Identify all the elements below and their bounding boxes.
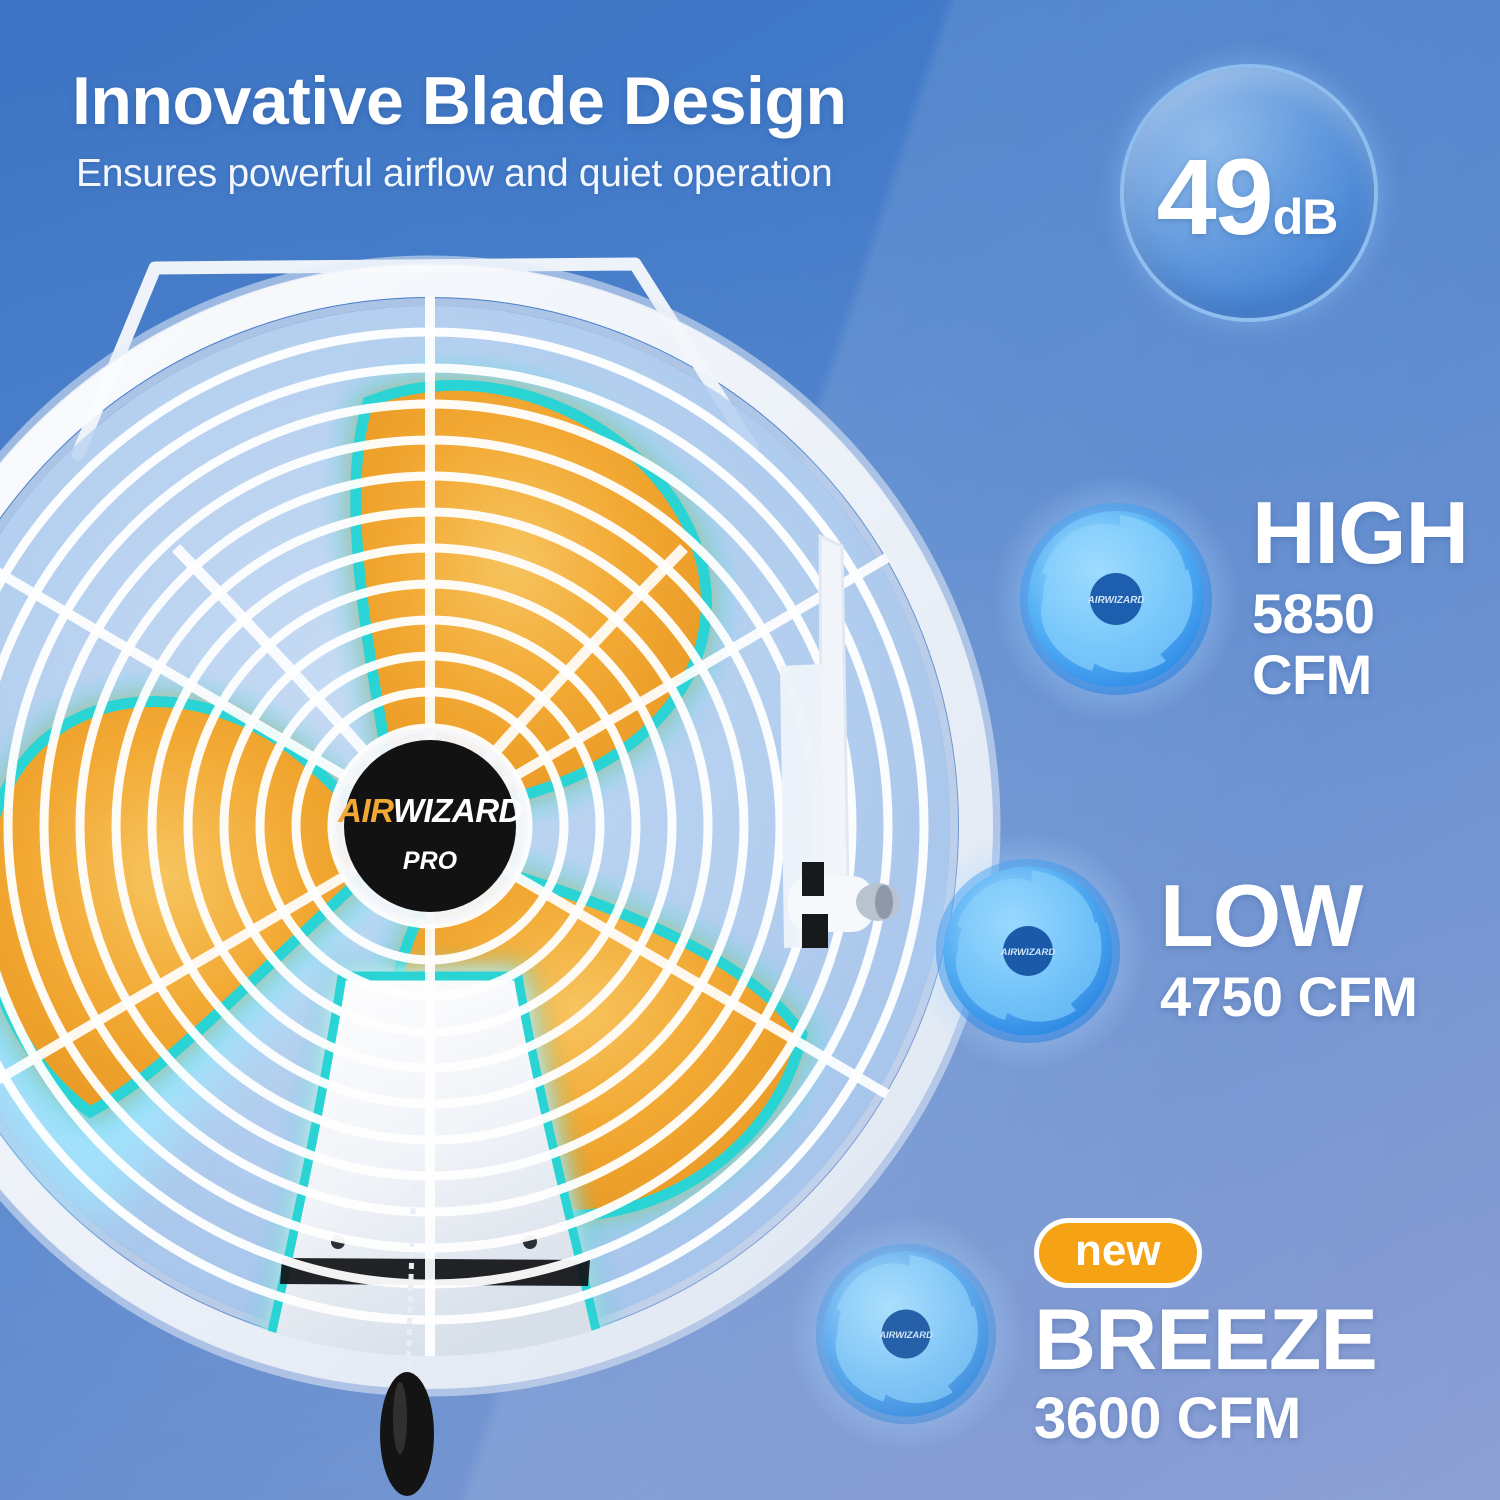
fan-icon-high: AIRWIZARD <box>1016 499 1216 699</box>
new-badge: new <box>1034 1218 1202 1288</box>
speed-labels-breeze: new BREEZE 3600 CFM <box>1034 1218 1377 1451</box>
noise-level-unit: dB <box>1273 192 1338 242</box>
fan-hub-logo: AIRWIZARD PRO <box>332 728 528 924</box>
fan-icon-breeze: AIRWIZARD <box>812 1240 1000 1428</box>
fan-icon-low: AIRWIZARD <box>932 855 1124 1047</box>
marketing-image-canvas: AIRWIZARD PRO Innovative Bl <box>0 0 1500 1500</box>
noise-level-value-group: 49 dB <box>1157 143 1338 251</box>
page-subtitle: Ensures powerful airflow and quiet opera… <box>76 152 1056 196</box>
fan-icon-hub-logo: AIRWIZARD <box>1086 595 1144 606</box>
speed-name-low: LOW <box>1160 875 1417 958</box>
noise-level-number: 49 <box>1157 143 1271 251</box>
speed-labels-low: LOW 4750 CFM <box>1160 875 1417 1027</box>
svg-text:AIRWIZARD: AIRWIZARD <box>337 792 522 829</box>
brand-wizard: WIZARD <box>393 792 522 829</box>
speed-name-breeze: BREEZE <box>1034 1300 1377 1381</box>
brand-pro: PRO <box>403 847 458 875</box>
speed-cfm-breeze: 3600 CFM <box>1034 1387 1377 1451</box>
page-title: Innovative Blade Design <box>72 66 1032 137</box>
speed-row-low: AIRWIZARD LOW 4750 CFM <box>932 855 1417 1047</box>
brand-air: AIR <box>337 792 394 829</box>
speed-name-high: HIGH <box>1252 492 1500 575</box>
fan-icon-hub-logo: AIRWIZARD <box>878 1329 933 1340</box>
fan-icon-hub-logo: AIRWIZARD <box>1000 947 1056 958</box>
noise-level-badge: 49 dB <box>1124 68 1374 318</box>
speed-row-high: AIRWIZARD HIGH 5850 CFM <box>1016 492 1500 706</box>
speed-cfm-low: 4750 CFM <box>1160 966 1417 1028</box>
speed-cfm-high: 5850 CFM <box>1252 583 1500 706</box>
speed-labels-high: HIGH 5850 CFM <box>1252 492 1500 706</box>
speed-row-breeze: AIRWIZARD new BREEZE 3600 CFM <box>812 1218 1377 1451</box>
